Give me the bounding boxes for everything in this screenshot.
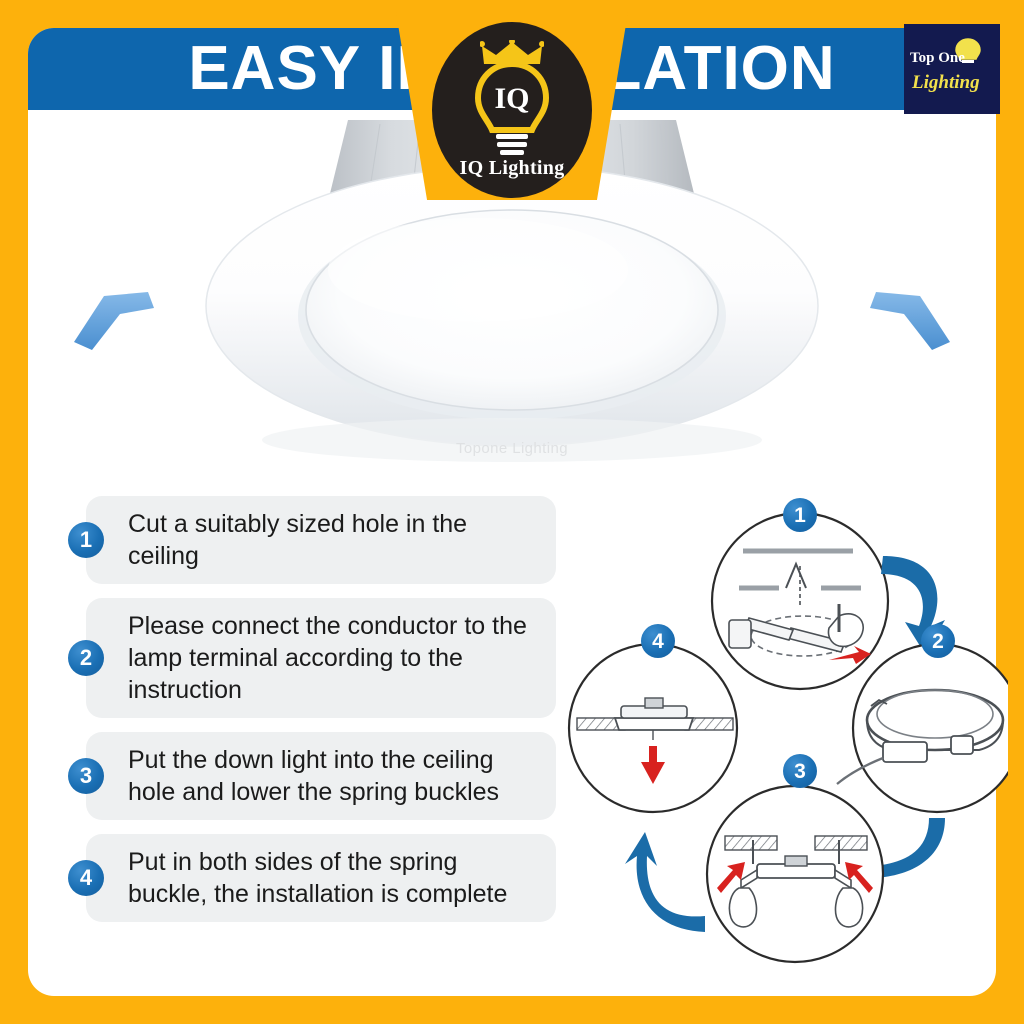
diagram-canvas [553,496,1008,996]
top-one-line1: Top One [910,50,965,67]
diagram-node-3 [707,786,883,962]
white-card: EASY INSTALLATION IQ IQ Lighting [28,28,996,996]
poster-page: EASY INSTALLATION IQ IQ Lighting [0,0,1024,1024]
step-badge: 1 [68,522,104,558]
step-text: Put in both sides of the spring buckle, … [128,846,540,910]
step-badge: 2 [68,640,104,676]
iq-lighting-logo: IQ IQ Lighting [432,22,592,198]
step-badge: 3 [68,758,104,794]
list-item: 1 Cut a suitably sized hole in the ceili… [56,496,556,584]
flow-arrow-3-4 [625,832,705,932]
spring-clip-left [74,292,154,350]
svg-text:IQ: IQ [494,82,529,115]
diagram-node-4 [569,644,737,812]
step-text: Please connect the conductor to the lamp… [128,610,540,706]
diagram-badge-4: 4 [641,624,675,658]
step-box: Put in both sides of the spring buckle, … [86,834,556,922]
list-item: 2 Please connect the conductor to the la… [56,598,556,718]
diagram-badge-1: 1 [783,498,817,532]
spring-clip-right [870,292,950,350]
step-text: Cut a suitably sized hole in the ceiling [128,508,540,572]
step-box: Cut a suitably sized hole in the ceiling [86,496,556,584]
product-watermark: Topone Lighting [456,440,568,457]
diagram-badge-2: 2 [921,624,955,658]
top-one-line2: Lighting [912,72,980,94]
installation-diagram: 1 2 3 4 [553,496,1008,996]
lightbulb-icon: IQ [469,60,555,164]
logo-wordmark: IQ Lighting [432,157,592,180]
diagram-badge-3: 3 [783,754,817,788]
installation-steps-list: 1 Cut a suitably sized hole in the ceili… [56,496,556,936]
step-box: Please connect the conductor to the lamp… [86,598,556,718]
list-item: 4 Put in both sides of the spring buckle… [56,834,556,922]
step-text: Put the down light into the ceiling hole… [128,744,540,808]
step-badge: 4 [68,860,104,896]
top-one-lighting-logo: Top One Lighting [904,24,1000,114]
diagram-node-2 [837,644,1008,812]
diagram-node-1 [712,513,888,689]
step-box: Put the down light into the ceiling hole… [86,732,556,820]
list-item: 3 Put the down light into the ceiling ho… [56,732,556,820]
